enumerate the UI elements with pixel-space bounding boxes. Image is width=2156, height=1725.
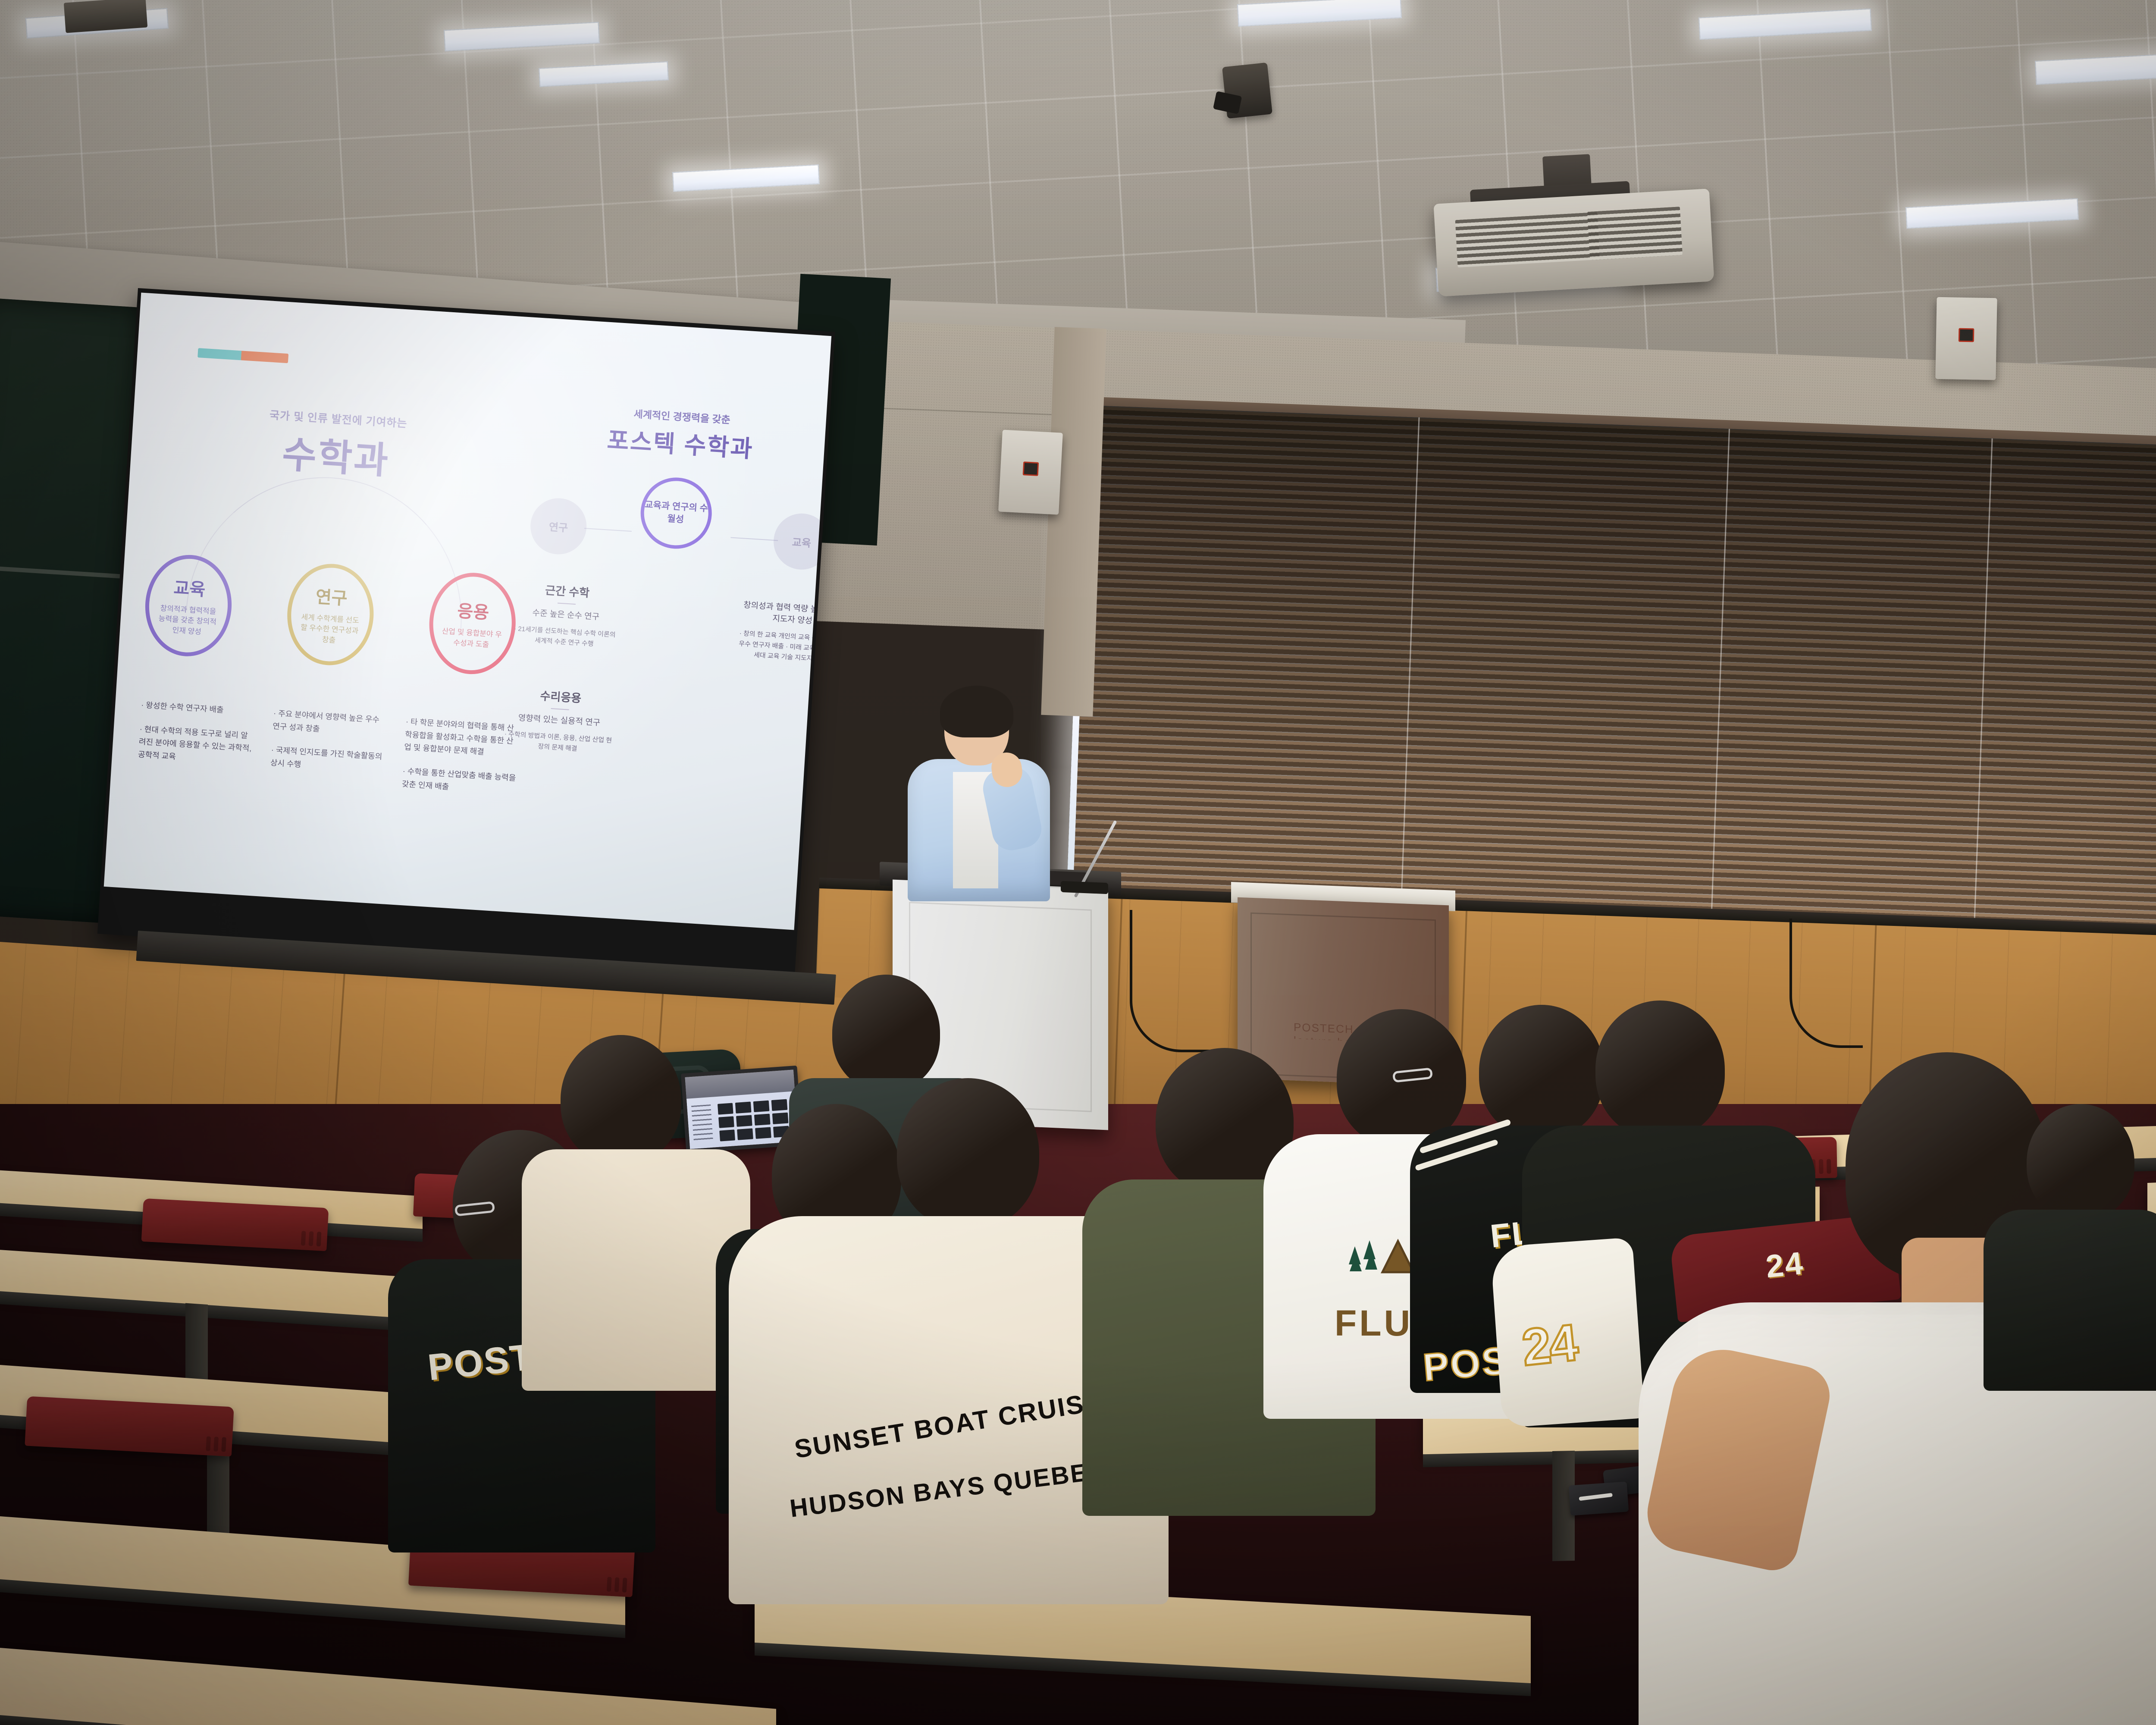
student-head [561,1035,681,1164]
student-head [2027,1104,2134,1220]
jersey-number-24: 24 [1519,1313,1579,1377]
right-heading-2: 수리응용 [507,685,615,708]
slide-bullet-row: · 왕성한 수학 연구자 배출 · 현대 수학의 적용 도구로 널리 알려진 분… [136,699,520,809]
projection-screen: 국가 및 인류 발전에 기여하는 수학과 교육 창의적과 협력적을 능력을 갖춘… [97,288,835,978]
bullet-2-2: · 국제적 인지도를 가진 학술활동의 상시 수행 [270,744,385,777]
circle-sub-education: 창의적과 협력적을 능력을 갖춘 창의적 인재 양성 [147,602,228,639]
ceiling-camera-icon [1222,63,1272,119]
laptop-sidebar [691,1104,713,1143]
student-head [1479,1005,1604,1138]
bullet-column-1: · 왕성한 수학 연구자 배출 · 현대 수학의 적용 도구로 널리 알려진 분… [136,699,256,792]
bullet-3-2: · 수학을 통한 산업맞춤 배출 능력을 갖춘 인재 배출 [401,765,517,798]
circle-label-research: 연구 [315,583,348,610]
student-head [897,1078,1039,1229]
student-body-far-right [1984,1210,2156,1391]
blinds-light-overlay [1072,405,2156,954]
ceiling-conduit [64,0,147,33]
slide-circle-row: 교육 창의적과 협력적을 능력을 갖춘 창의적 인재 양성 연구 세계 수학계를… [142,552,519,677]
slide-right-section-3: 창의성과 협력 역량 높여 맞춤 지도자 양성 · 창의 한 교육 개인의 교육… [736,598,832,666]
bullet-column-2: · 주요 분야에서 영향력 높은 우수 연구 성과 창출 · 국제적 인지도를 … [269,707,388,801]
right-lead-2: 영향력 있는 실용적 연구 [505,711,613,729]
lecture-hall-photo: 국가 및 인류 발전에 기여하는 수학과 교육 창의적과 협력적을 능력을 갖춘… [0,0,2156,1725]
slide-right-section-1: 근간 수학 수준 높은 순수 연구 · 21세기를 선도하는 핵심 수학 이론의… [510,580,622,651]
jbl-speaker-right [1935,297,1997,380]
bullet-2-1: · 주요 분야에서 영향력 높은 우수 연구 성과 창출 [272,707,388,740]
right-body-1: · 21세기를 선도하는 핵심 수학 이론의 세계적 수준 연구 수행 [510,624,619,651]
desk-edge [0,1705,776,1725]
right-rule-1 [558,603,576,605]
slide-content: 국가 및 인류 발전에 기여하는 수학과 교육 창의적과 협력적을 능력을 갖춘… [104,292,831,930]
slide-accent-bar [197,348,288,363]
student-head [1595,1000,1725,1138]
circle-sub-application: 산업 및 융합분야 우수성과 도출 [432,625,511,652]
bullet-3-1: · 타 학문 분야와의 협력을 통해 산학융합을 활성화고 수학을 통한 산업 … [404,715,520,761]
audio-cable-2 [1789,919,1863,1048]
right-lead-1: 수준 높은 순수 연구 [512,605,620,624]
jacket-stripe-2 [1415,1139,1498,1171]
slide-circle-education: 교육 창의적과 협력적을 능력을 갖춘 창의적 인재 양성 [142,552,235,659]
microphone-base [1061,881,1108,894]
slide-circle-research: 연구 세계 수학계를 선도할 우수한 연구성과 창출 [284,561,376,668]
right-rule-2 [551,708,569,710]
jbl-speaker-left [998,430,1063,514]
slide-right-section-2: 수리응용 영향력 있는 실용적 연구 · 수학의 방법과 이론, 응용, 산업 … [503,685,615,756]
wallet[interactable] [1569,1481,1629,1515]
audio-cable [1130,910,1250,1052]
right-heading-1: 근간 수학 [513,580,622,602]
slide-right-center-ring: 교육과 연구의 수월성 [638,475,714,551]
bullet-1-1: · 왕성한 수학 연구자 배출 [141,699,255,718]
circle-label-education: 교육 [173,574,206,601]
window-blinds[interactable] [1072,405,2156,954]
presenter-hair [940,686,1013,737]
laptop-grid [718,1099,790,1141]
right-body-2: · 수학의 방법과 이론, 응용, 산업 산업 현장의 문제 해결 [503,729,612,756]
circle-sub-research: 세계 수학계를 선도할 우수한 연구성과 창출 [289,611,370,648]
slide-circle-application: 응용 산업 및 융합분야 우수성과 도출 [426,570,519,677]
right-body-3: · 창의 한 교육 개인의 교육 목표 맞춤형 우수 연구자 배출 · 미래 교… [736,628,832,666]
bullet-column-3: · 타 학문 분야와의 협력을 통해 산학융합을 활성화고 수학을 통한 산업 … [401,715,520,809]
circle-label-application: 응용 [457,597,490,624]
student-head [832,975,940,1091]
projected-slide: 국가 및 인류 발전에 기여하는 수학과 교육 창의적과 협력적을 능력을 갖춘… [104,292,831,930]
ceiling-projector [1433,188,1714,296]
bullet-1-2: · 현대 수학의 적용 도구로 널리 알려진 분야에 응용할 수 있는 과학적,… [138,723,254,768]
laptop-screen-strip [685,1069,795,1099]
